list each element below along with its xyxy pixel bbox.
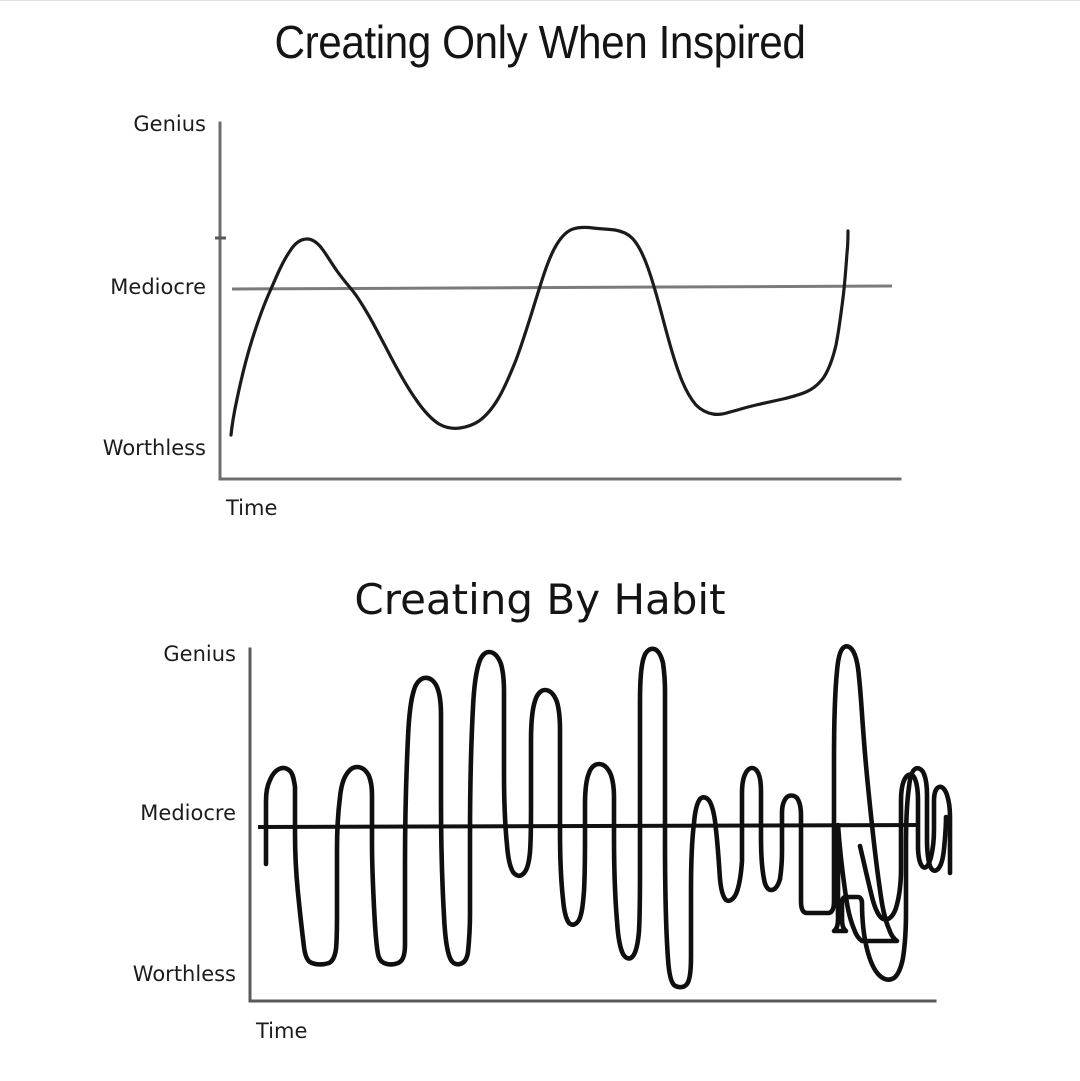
x-axis-label-time-top: Time xyxy=(226,498,277,519)
chart-title-inspired: Creating Only When Inspired xyxy=(43,19,1037,65)
chart-title-habit: Creating By Habit xyxy=(0,579,1080,621)
chart-panel-inspired: Creating Only When Inspired xyxy=(0,1,1080,541)
y-axis-label-worthless-bottom: Worthless xyxy=(30,964,236,985)
y-axis-label-mediocre-bottom: Mediocre xyxy=(40,803,236,824)
y-axis-label-genius-top: Genius xyxy=(20,114,206,135)
y-axis-label-genius-bottom: Genius xyxy=(40,644,236,665)
y-axis-label-mediocre-top: Mediocre xyxy=(20,277,206,298)
meme-image-canvas: Creating Only When Inspired Genius Medio… xyxy=(0,0,1080,1080)
y-axis-label-worthless-top: Worthless xyxy=(20,438,206,459)
x-axis-label-time-bottom: Time xyxy=(256,1021,307,1042)
